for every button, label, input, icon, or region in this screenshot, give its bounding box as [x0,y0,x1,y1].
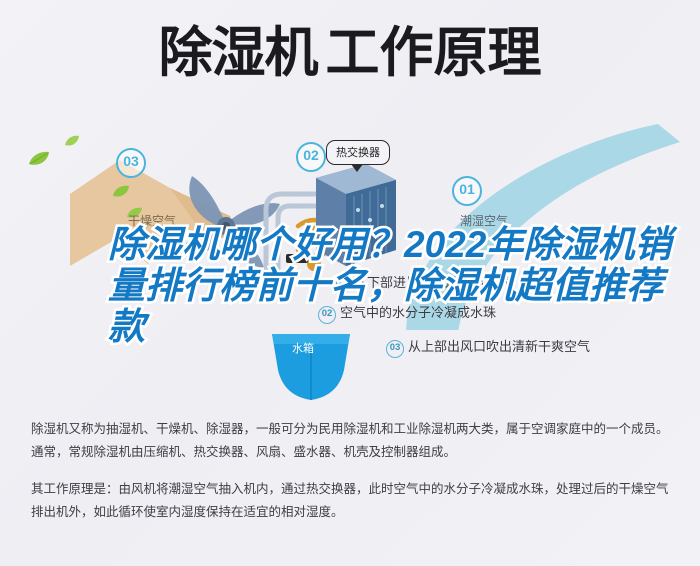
article-body: 除湿机又称为抽湿机、干燥机、除湿器，一般可分为民用除湿机和工业除湿机两大类，属于… [31,418,673,524]
page-title-text: 除湿机工作原理 [159,22,542,84]
leaf-icon [112,184,130,199]
body-paragraph-two: 其工作原理是：由风机将潮湿空气抽入机内，通过热交换器，此时空气中的水分子冷凝成水… [31,478,673,524]
infographic-page: 除湿机工作原理 [0,0,700,566]
page-title-segment-two: 工作原理 [326,23,542,83]
page-title: 除湿机工作原理 [0,22,700,84]
badge-01: 01 [452,176,482,206]
page-title-segment-one: 除湿机 [159,23,318,83]
leaf-icon [28,150,50,168]
overlay-headline: 除湿机哪个好用？2022年除湿机销量排行榜前十名，除湿机超值推荐款 [108,224,690,347]
badge-03: 03 [116,148,146,178]
badge-02: 02 [296,142,326,172]
body-paragraph-one: 除湿机又称为抽湿机、干燥机、除湿器，一般可分为民用除湿机和工业除湿机两大类，属于… [31,418,673,464]
heat-exchanger-callout: 热交换器 [326,140,390,165]
leaf-icon [64,134,80,148]
